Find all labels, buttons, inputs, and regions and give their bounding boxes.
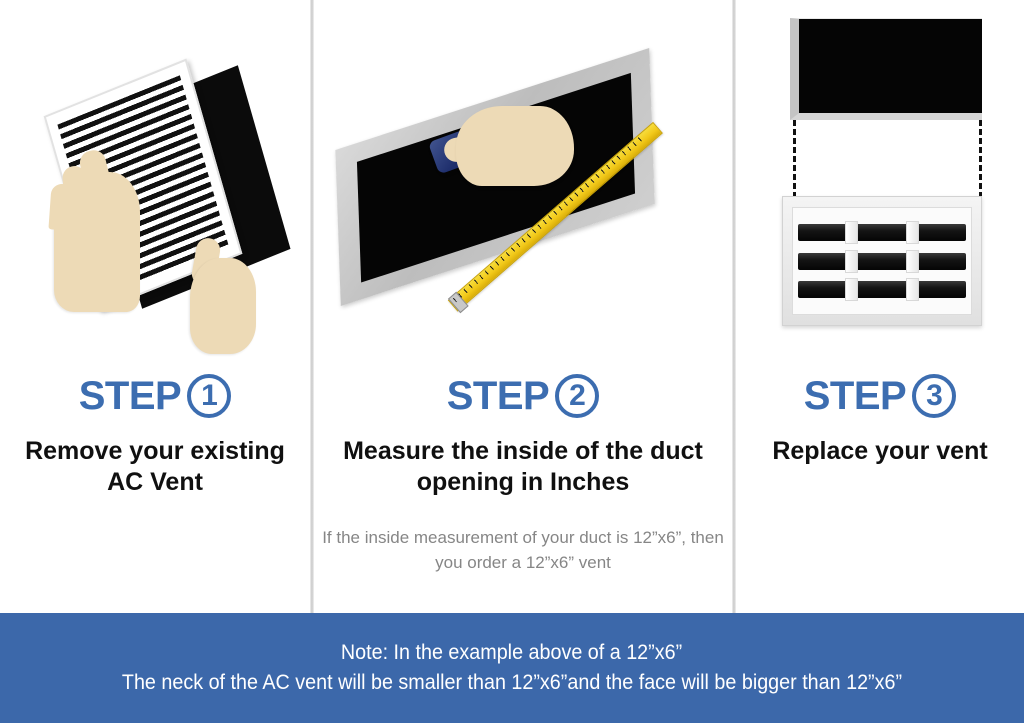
vent-post — [906, 250, 919, 273]
vent-louver — [798, 253, 966, 270]
vent-louver — [798, 281, 966, 298]
vent-post — [845, 250, 858, 273]
step-2-word: STEP — [447, 376, 549, 416]
step-1-heading: STEP 1 — [0, 370, 310, 422]
footer-note-bar: Note: In the example above of a 12”x6” T… — [0, 613, 1024, 723]
tape-measure-on-duct-illustration — [324, 96, 724, 286]
step-3-word: STEP — [804, 376, 906, 416]
footer-note-line-1: Note: In the example above of a 12”x6” — [341, 638, 682, 668]
step-1-caption: STEP 1 Remove your existing AC Vent — [0, 370, 310, 499]
step-3-caption: STEP 3 Replace your vent — [736, 370, 1024, 467]
step-3-title: Replace your vent — [736, 436, 1024, 467]
step-1-number-badge: 1 — [187, 374, 231, 418]
step-column-2: STEP 2 Measure the inside of the duct op… — [314, 0, 732, 613]
vent-register-face — [792, 207, 972, 315]
step-3-illustration — [736, 0, 1024, 360]
step-1-title: Remove your existing AC Vent — [0, 436, 310, 499]
step-3-heading: STEP 3 — [736, 370, 1024, 422]
vent-louver — [798, 224, 966, 241]
left-hand-finger-3 — [48, 183, 73, 230]
step-1-word: STEP — [79, 376, 181, 416]
step-2-note: If the inside measurement of your duct i… — [314, 525, 732, 576]
vent-post — [845, 278, 858, 301]
hand — [456, 106, 574, 186]
step-2-title: Measure the inside of the duct opening i… — [314, 436, 732, 499]
right-hand — [190, 258, 256, 354]
step-column-3: STEP 3 Replace your vent — [736, 0, 1024, 613]
step-2-number-badge: 2 — [555, 374, 599, 418]
step-2-heading: STEP 2 — [314, 370, 732, 422]
vent-post — [906, 278, 919, 301]
step-2-illustration — [314, 0, 732, 360]
step-column-1: STEP 1 Remove your existing AC Vent — [0, 0, 310, 613]
vent-alignment-illustration — [774, 18, 988, 348]
hands-removing-vent-illustration — [48, 62, 278, 312]
footer-note-line-2: The neck of the AC vent will be smaller … — [122, 668, 902, 698]
dashed-alignment-line-left — [793, 120, 796, 198]
vent-post — [845, 221, 858, 244]
step-3-number-badge: 3 — [912, 374, 956, 418]
step-1-illustration — [0, 0, 310, 360]
white-vent-register — [782, 196, 982, 326]
black-duct-opening — [790, 18, 982, 120]
vent-post — [906, 221, 919, 244]
infographic-page: STEP 1 Remove your existing AC Vent — [0, 0, 1024, 723]
step-2-caption: STEP 2 Measure the inside of the duct op… — [314, 370, 732, 576]
dashed-alignment-line-right — [979, 120, 982, 198]
